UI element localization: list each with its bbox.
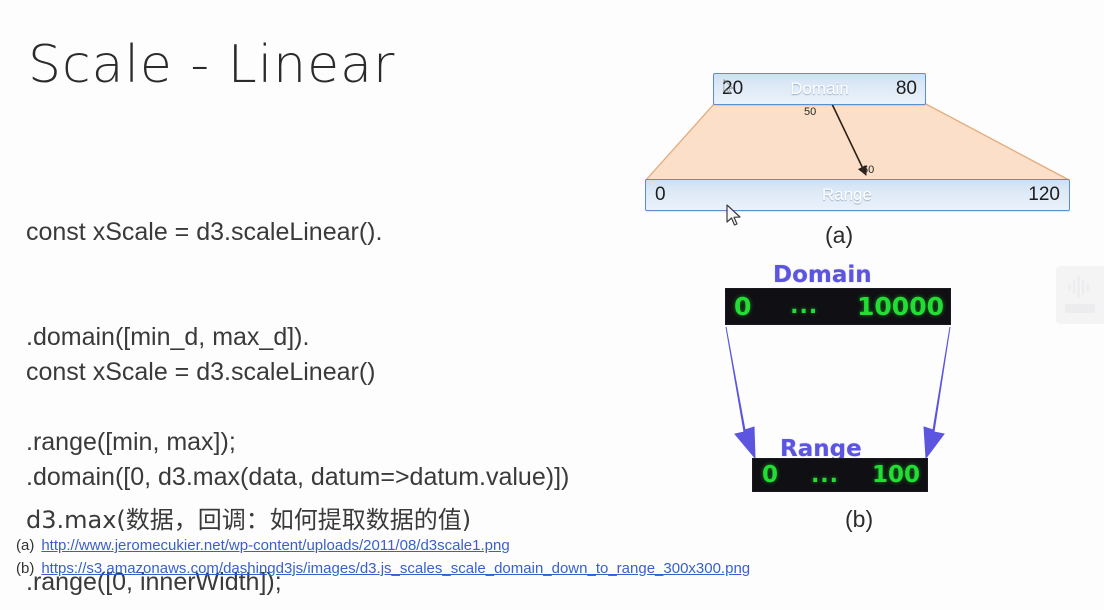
footnote-row-b: (b) https://s3.amazonaws.com/dashingd3js… (16, 557, 750, 580)
mouse-cursor-icon (726, 204, 744, 228)
range-label: Range (666, 185, 1029, 205)
footnote-row-a: (a) http://www.jeromecukier.net/wp-conte… (16, 534, 750, 557)
domain-box-figure-a: 20 Domain 80 (713, 73, 926, 105)
bilibili-watermark-icon (1056, 266, 1104, 324)
figure-b-caption: (b) (845, 506, 873, 533)
range-tick-value: 60 (862, 164, 874, 176)
domain-box-figure-b: 0 ... 10000 (725, 288, 951, 325)
figure-a-caption: (a) (825, 222, 853, 249)
page-title: Scale - Linear (28, 35, 395, 95)
watermark-glyph-icon (1056, 266, 1104, 324)
right-mapping-arrow (924, 327, 950, 458)
range-box-figure-a: 0 Range 120 (645, 179, 1070, 211)
figure-b-scale-diagram: Domain 0 ... 10000 Range 0 ... 100 (b) (700, 258, 980, 533)
range-min-value: 0 (762, 462, 778, 488)
range-max-value: 120 (1028, 184, 1060, 206)
trapezoid-shape (646, 104, 1069, 180)
domain-max-value: 10000 (857, 292, 944, 321)
domain-max-value: 80 (896, 78, 917, 100)
domain-label: Domain (743, 79, 896, 99)
annotation-notes: d3.max(数据，回调：如何提取数据的值) d3.max: 求出数据某一属性的… (26, 425, 636, 610)
figure-a-scale-diagram: 20 Domain 80 0 Range 120 50 60 (a) (640, 62, 1080, 252)
left-mapping-arrow (726, 327, 755, 458)
domain-min-value: 0 (734, 292, 751, 321)
footnote-marker: (b) (16, 557, 34, 580)
domain-label-figure-b: Domain (773, 262, 872, 288)
range-ellipsis: ... (778, 463, 872, 488)
range-min-value: 0 (655, 184, 666, 206)
range-max-value: 100 (872, 462, 920, 488)
code-line: const xScale = d3.scaleLinear() (26, 355, 569, 390)
footnote-link-b[interactable]: https://s3.amazonaws.com/dashingd3js/ima… (41, 557, 750, 580)
footnote-link-a[interactable]: http://www.jeromecukier.net/wp-content/u… (41, 534, 509, 557)
slide-canvas: Scale - Linear const xScale = d3.scaleLi… (0, 0, 1104, 610)
domain-ellipsis: ... (751, 294, 857, 319)
mouse-cursor-artifact-icon (723, 79, 736, 96)
footnote-marker: (a) (16, 534, 34, 557)
domain-tick-value: 50 (804, 106, 816, 118)
code-line: const xScale = d3.scaleLinear(). (26, 215, 382, 250)
range-box-figure-b: 0 ... 100 (752, 458, 928, 492)
footnotes: (a) http://www.jeromecukier.net/wp-conte… (16, 534, 750, 580)
